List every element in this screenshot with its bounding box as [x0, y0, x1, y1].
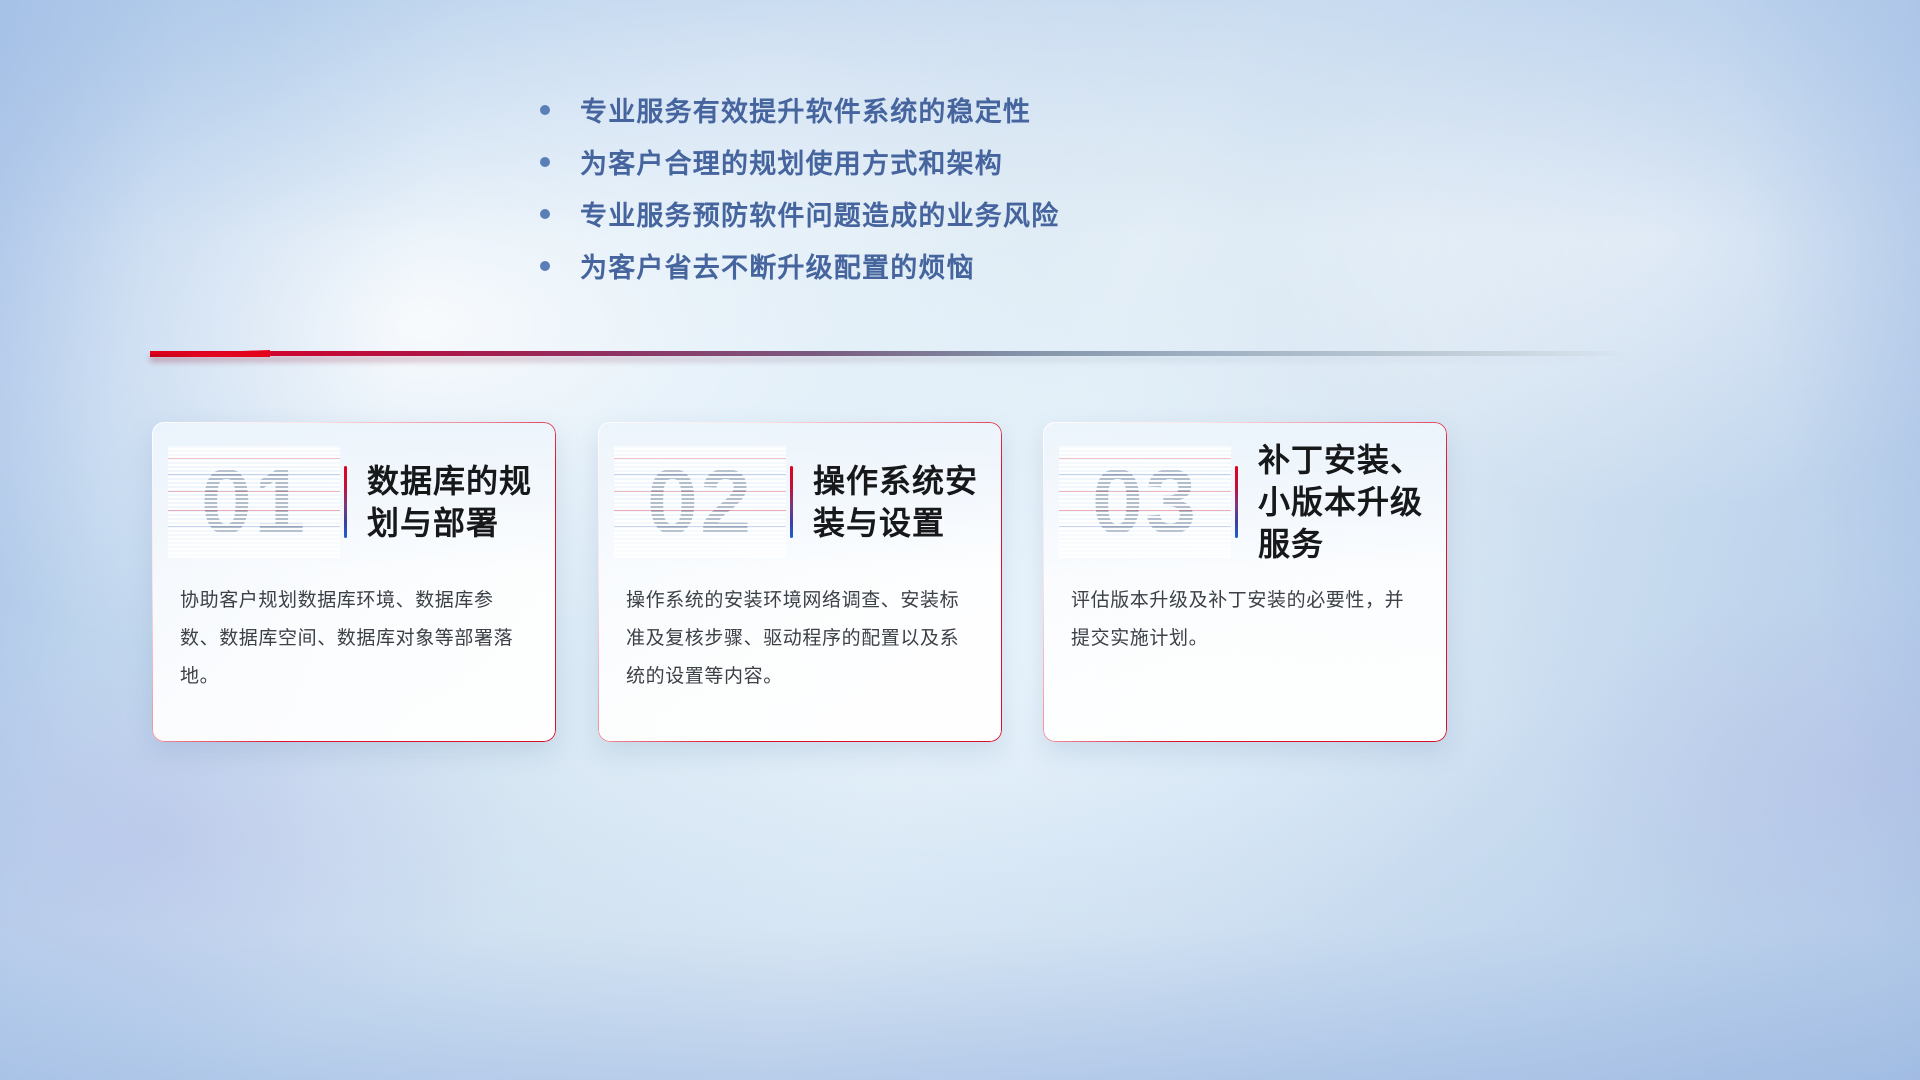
bullet-dot-icon	[540, 157, 550, 167]
card-number-graphic: 01	[168, 446, 340, 558]
card-body-text: 协助客户规划数据库环境、数据库参数、数据库空间、数据库对象等部署落地。	[180, 582, 530, 696]
card-title: 补丁安装、小版本升级服务	[1258, 439, 1447, 566]
card-row: 01 数据库的规划与部署 协助客户规划数据库环境、数据库参数、数据库空间、数据库…	[0, 422, 1920, 752]
bullet-item-label: 为客户省去不断升级配置的烦恼	[580, 242, 975, 294]
bullet-item-label: 专业服务预防软件问题造成的业务风险	[580, 190, 1059, 242]
card-title-rule	[344, 466, 347, 538]
bullet-item: 专业服务有效提升软件系统的稳定性	[540, 86, 1360, 138]
card-body-text: 评估版本升级及补丁安装的必要性，并提交实施计划。	[1071, 582, 1421, 658]
card-03[interactable]: 03 补丁安装、小版本升级服务 评估版本升级及补丁安装的必要性，并提交实施计划。	[1043, 422, 1447, 742]
card-number-label: 03	[1059, 446, 1231, 558]
card-title-rule	[1235, 466, 1238, 538]
card-title-rule	[790, 466, 793, 538]
bullet-item: 为客户省去不断升级配置的烦恼	[540, 242, 1360, 294]
bullet-item-label: 专业服务有效提升软件系统的稳定性	[580, 86, 1031, 138]
card-01[interactable]: 01 数据库的规划与部署 协助客户规划数据库环境、数据库参数、数据库空间、数据库…	[152, 422, 556, 742]
section-divider	[150, 344, 1630, 364]
card-title: 数据库的规划与部署	[367, 460, 556, 544]
card-number-graphic: 03	[1059, 446, 1231, 558]
card-header: 03 补丁安装、小版本升级服务	[1043, 446, 1447, 558]
bullet-dot-icon	[540, 261, 550, 271]
card-02[interactable]: 02 操作系统安装与设置 操作系统的安装环境网络调查、安装标准及复核步骤、驱动程…	[598, 422, 1002, 742]
card-header: 02 操作系统安装与设置	[598, 446, 1002, 558]
card-number-label: 02	[614, 446, 786, 558]
bullet-dot-icon	[540, 105, 550, 115]
card-title: 操作系统安装与设置	[813, 460, 1002, 544]
divider-line	[150, 351, 1630, 356]
card-number-graphic: 02	[614, 446, 786, 558]
bullet-item: 专业服务预防软件问题造成的业务风险	[540, 190, 1360, 242]
bullet-item-label: 为客户合理的规划使用方式和架构	[580, 138, 1003, 190]
card-body-text: 操作系统的安装环境网络调查、安装标准及复核步骤、驱动程序的配置以及系统的设置等内…	[626, 582, 976, 696]
divider-shadow	[150, 356, 1630, 362]
bullet-list: 专业服务有效提升软件系统的稳定性 为客户合理的规划使用方式和架构 专业服务预防软…	[540, 86, 1360, 294]
bullet-dot-icon	[540, 209, 550, 219]
card-header: 01 数据库的规划与部署	[152, 446, 556, 558]
bullet-item: 为客户合理的规划使用方式和架构	[540, 138, 1360, 190]
card-number-label: 01	[168, 446, 340, 558]
